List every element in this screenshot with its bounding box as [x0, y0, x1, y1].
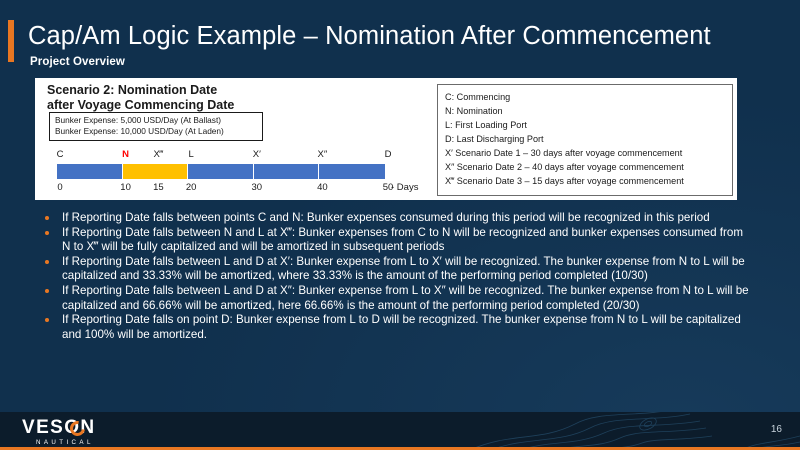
legend-line-3: D: Last Discharging Port — [445, 132, 725, 146]
diagram-panel: Scenario 2: Nomination Date after Voyage… — [35, 78, 737, 200]
timeline-point-label-D: D — [385, 148, 392, 161]
bullet-dot-icon — [45, 289, 49, 293]
bullet-item: If Reporting Date falls on point D: Bunk… — [40, 313, 752, 342]
timeline-bar — [57, 164, 385, 179]
bullet-item: If Reporting Date falls between N and L … — [40, 226, 752, 255]
bunker-expense-ballast: Bunker Expense: 5,000 USD/Day (At Ballas… — [55, 115, 257, 126]
bullet-text: If Reporting Date falls between N and L … — [62, 226, 743, 254]
timeline-segment-ballast-c-to-n — [57, 164, 123, 179]
timeline-point-label-X: X‴ — [154, 148, 164, 161]
timeline-day-tick-30: 30 — [252, 181, 263, 194]
diagram-legend: C: CommencingN: NominationL: First Loadi… — [437, 84, 733, 196]
logo-wordmark: VESON — [22, 418, 96, 438]
bullet-item: If Reporting Date falls between L and D … — [40, 284, 752, 313]
page-number: 16 — [771, 424, 782, 435]
timeline-point-label-N: N — [122, 148, 129, 161]
title-accent-bar — [8, 20, 14, 62]
bullet-text: If Reporting Date falls between points C… — [62, 211, 710, 224]
bullet-item: If Reporting Date falls between L and D … — [40, 255, 752, 284]
timeline-segment-ballast-n-to-l — [123, 164, 189, 179]
bullet-list: If Reporting Date falls between points C… — [40, 211, 752, 342]
timeline-point-labels: CNX‴LX′X″D — [57, 148, 387, 162]
timeline-day-tick-20: 20 — [186, 181, 197, 194]
timeline-segment-laden-x2-to-d — [319, 164, 385, 179]
timeline-segment-laden-l-to-x1 — [188, 164, 254, 179]
legend-line-2: L: First Loading Port — [445, 118, 725, 132]
legend-line-6: X‴ Scenario Date 3 – 15 days after voyag… — [445, 174, 725, 188]
bunker-expense-laden: Bunker Expense: 10,000 USD/Day (At Laden… — [55, 126, 257, 137]
page-title: Cap/Am Logic Example – Nomination After … — [28, 20, 778, 52]
timeline-day-tick-10: 10 — [120, 181, 131, 194]
veson-logo: VESON NAUTICAL — [22, 418, 172, 446]
bullet-dot-icon — [45, 260, 49, 264]
timeline-day-ticks: 0101520304050 — [57, 181, 387, 195]
legend-line-1: N: Nomination — [445, 104, 725, 118]
legend-line-0: C: Commencing — [445, 90, 725, 104]
timeline-day-tick-40: 40 — [317, 181, 328, 194]
bullet-dot-icon — [45, 231, 49, 235]
timeline-day-tick-15: 15 — [153, 181, 164, 194]
bullet-dot-icon — [45, 216, 49, 220]
bullet-item: If Reporting Date falls between points C… — [40, 211, 752, 226]
scenario-heading-line-1: Scenario 2: Nomination Date — [47, 83, 327, 98]
voyage-timeline: CNX‴LX′X″D 0101520304050 - Days — [57, 148, 387, 196]
timeline-day-tick-0: 0 — [57, 181, 62, 194]
scenario-heading: Scenario 2: Nomination Date after Voyage… — [47, 83, 327, 113]
bullet-text: If Reporting Date falls between L and D … — [62, 284, 749, 312]
slide-canvas: Cap/Am Logic Example – Nomination After … — [0, 0, 800, 450]
page-subtitle: Project Overview — [30, 56, 125, 68]
scenario-heading-line-2: after Voyage Commencing Date — [47, 98, 327, 113]
legend-line-4: X′ Scenario Date 1 – 30 days after voyag… — [445, 146, 725, 160]
timeline-point-label-L: L — [189, 148, 194, 161]
timeline-segment-laden-x1-to-x2 — [254, 164, 320, 179]
slide-footer: VESON NAUTICAL 16 — [0, 412, 800, 450]
bullet-dot-icon — [45, 318, 49, 322]
timeline-point-label-X: X′ — [253, 148, 261, 161]
legend-line-5: X″ Scenario Date 2 – 40 days after voyag… — [445, 160, 725, 174]
timeline-point-label-C: C — [57, 148, 64, 161]
bullet-text: If Reporting Date falls on point D: Bunk… — [62, 313, 741, 341]
bullet-text: If Reporting Date falls between L and D … — [62, 255, 745, 283]
bunker-expense-box: Bunker Expense: 5,000 USD/Day (At Ballas… — [49, 112, 263, 141]
timeline-point-label-X: X″ — [318, 148, 328, 161]
timeline-unit-label: - Days — [391, 181, 418, 194]
logo-subtext: NAUTICAL — [36, 439, 172, 446]
